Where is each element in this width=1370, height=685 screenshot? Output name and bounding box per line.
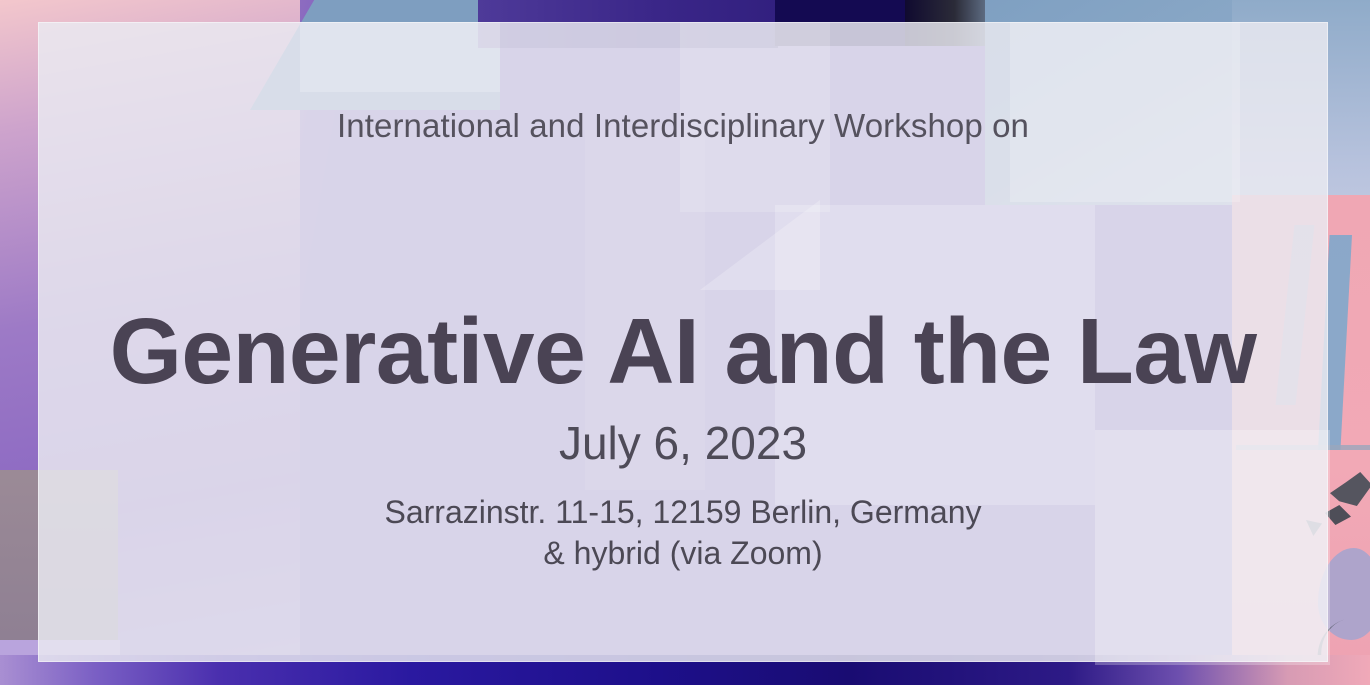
event-date: July 6, 2023 xyxy=(38,417,1328,470)
page-title: Generative AI and the Law xyxy=(38,303,1328,401)
poster-canvas: International and Interdisciplinary Work… xyxy=(0,0,1370,685)
poster-content: International and Interdisciplinary Work… xyxy=(38,22,1328,662)
event-venue: Sarrazinstr. 11-15, 12159 Berlin, German… xyxy=(38,492,1328,574)
venue-address: Sarrazinstr. 11-15, 12159 Berlin, German… xyxy=(38,492,1328,533)
venue-mode: & hybrid (via Zoom) xyxy=(38,533,1328,574)
workshop-subtitle: International and Interdisciplinary Work… xyxy=(38,108,1328,144)
